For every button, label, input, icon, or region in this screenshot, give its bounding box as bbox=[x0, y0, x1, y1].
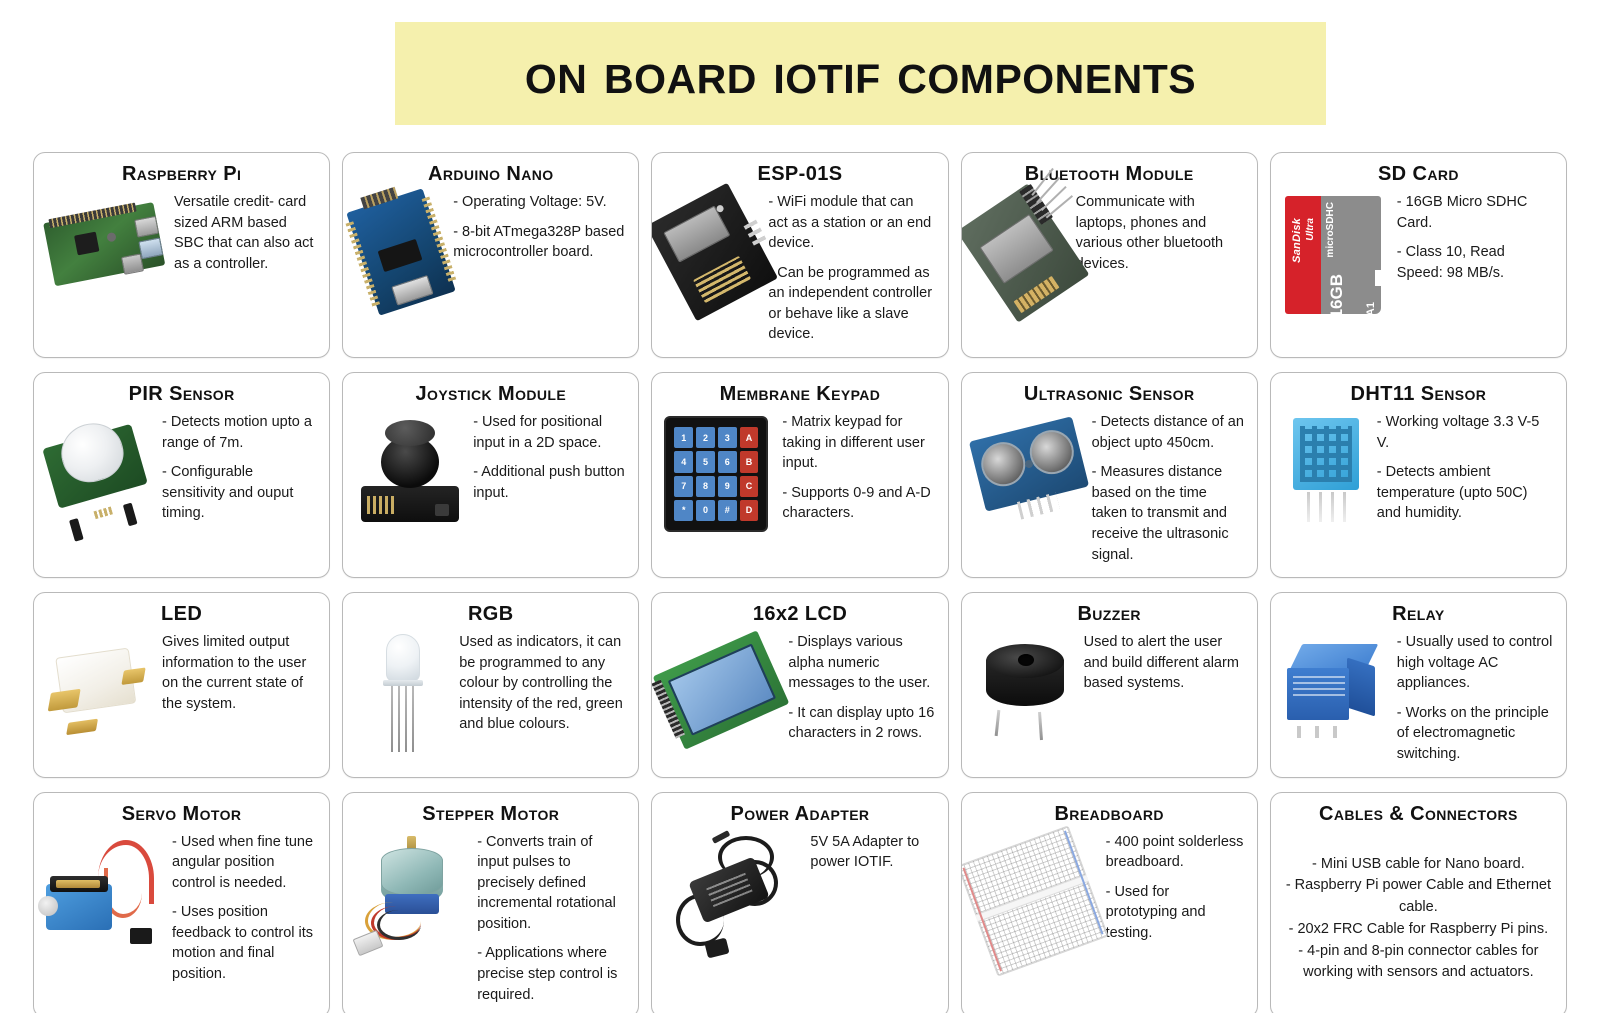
card-description: Versatile credit- card sized ARM based S… bbox=[174, 192, 317, 274]
desc-line: - 400 point solderless breadboard. bbox=[1106, 832, 1245, 873]
desc-line: - Configurable sensitivity and ouput tim… bbox=[162, 462, 317, 524]
relay-image bbox=[1283, 632, 1389, 730]
card-title: Raspberry Pi bbox=[46, 163, 317, 186]
desc-line: - 16GB Micro SDHC Card. bbox=[1397, 192, 1554, 233]
keypad-key-grid: 123A456B789C*0#D bbox=[674, 427, 758, 521]
card-bluetooth-module[interactable]: Bluetooth Module Communicate with laptop… bbox=[961, 152, 1258, 358]
card-title: Cables & Connectors bbox=[1283, 803, 1554, 826]
desc-line: - Class 10, Read Speed: 98 MB/s. bbox=[1397, 242, 1554, 283]
card-description: - Displays various alpha numeric message… bbox=[788, 632, 935, 744]
card-relay[interactable]: Relay - Usually used to control high vol… bbox=[1270, 592, 1567, 777]
card-description: - Used when fine tune angular position c… bbox=[172, 832, 317, 985]
desc-line: - Works on the principle of electromagne… bbox=[1397, 703, 1554, 765]
card-esp-01s[interactable]: ESP-01S - WiFi module that can act as a … bbox=[651, 152, 948, 358]
card-title: 16x2 LCD bbox=[664, 603, 935, 626]
keypad-key-hash[interactable]: # bbox=[718, 500, 737, 521]
desc-line: - 4-pin and 8-pin connector cables for w… bbox=[1283, 941, 1554, 985]
dht11-sensor-image bbox=[1283, 412, 1369, 522]
power-adapter-image bbox=[664, 832, 802, 958]
desc-line: - WiFi module that can act as a station … bbox=[768, 192, 935, 254]
desc-line: - Measures distance based on the time ta… bbox=[1092, 462, 1245, 565]
card-description: - Converts train of input pulses to prec… bbox=[477, 832, 626, 1006]
card-lcd-16x2[interactable]: 16x2 LCD - Displays various alpha numeri… bbox=[651, 592, 948, 777]
desc-line: - Supports 0-9 and A-D characters. bbox=[782, 483, 935, 524]
card-title: Membrane Keypad bbox=[664, 383, 935, 406]
card-title: LED bbox=[46, 603, 317, 626]
joystick-module-image bbox=[355, 412, 465, 522]
desc-line: - Detects distance of an object upto 450… bbox=[1092, 412, 1245, 453]
desc-line: - Converts train of input pulses to prec… bbox=[477, 832, 626, 935]
title-banner: On Board IOTIF Components bbox=[395, 22, 1326, 125]
card-pir-sensor[interactable]: PIR Sensor - Detects motion upto a range… bbox=[33, 372, 330, 578]
card-description: - Mini USB cable for Nano board. - Raspb… bbox=[1283, 832, 1554, 985]
desc-line: - Used for positional input in a 2D spac… bbox=[473, 412, 626, 453]
desc-line: - Usually used to control high voltage A… bbox=[1397, 632, 1554, 694]
desc-line: Gives limited output information to the … bbox=[162, 632, 317, 714]
keypad-key-0[interactable]: 0 bbox=[696, 500, 715, 521]
sd-capacity-label: 16GB bbox=[1327, 274, 1347, 318]
card-power-adapter[interactable]: Power Adapter 5V 5A Adapter to power IOT… bbox=[651, 792, 948, 1013]
card-title: DHT11 Sensor bbox=[1283, 383, 1554, 406]
keypad-key-9[interactable]: 9 bbox=[718, 476, 737, 497]
card-title: Power Adapter bbox=[664, 803, 935, 826]
desc-line: - 20x2 FRC Cable for Raspberry Pi pins. bbox=[1283, 919, 1554, 941]
membrane-keypad-image: 123A456B789C*0#D bbox=[664, 412, 774, 532]
stepper-motor-image bbox=[355, 832, 469, 952]
card-description: 5V 5A Adapter to power IOTIF. bbox=[810, 832, 935, 873]
card-breadboard[interactable]: Breadboard - 400 point solderless breadb… bbox=[961, 792, 1258, 1013]
card-title: SD Card bbox=[1283, 163, 1554, 186]
card-title: Joystick Module bbox=[355, 383, 626, 406]
desc-line: - Detects ambient temperature (upto 50C)… bbox=[1377, 462, 1554, 524]
desc-line: - Used when fine tune angular position c… bbox=[172, 832, 317, 894]
keypad-key-star[interactable]: * bbox=[674, 500, 693, 521]
keypad-key-A[interactable]: A bbox=[740, 427, 759, 448]
card-description: - Usually used to control high voltage A… bbox=[1397, 632, 1554, 764]
desc-line: - Operating Voltage: 5V. bbox=[453, 192, 626, 213]
card-description: Used as indicators, it can be programmed… bbox=[459, 632, 626, 735]
card-description: - Working voltage 3.3 V-5 V. - Detects a… bbox=[1377, 412, 1554, 524]
card-description: - 16GB Micro SDHC Card. - Class 10, Read… bbox=[1397, 192, 1554, 283]
keypad-key-B[interactable]: B bbox=[740, 451, 759, 472]
desc-line: 5V 5A Adapter to power IOTIF. bbox=[810, 832, 935, 873]
card-arduino-nano[interactable]: Arduino Nano - Operating Voltage: 5V. - … bbox=[342, 152, 639, 358]
keypad-key-3[interactable]: 3 bbox=[718, 427, 737, 448]
card-stepper-motor[interactable]: Stepper Motor - Converts train of input … bbox=[342, 792, 639, 1013]
card-title: PIR Sensor bbox=[46, 383, 317, 406]
card-title: Breadboard bbox=[974, 803, 1245, 826]
card-title: Relay bbox=[1283, 603, 1554, 626]
desc-line: - Uses position feedback to control its … bbox=[172, 902, 317, 984]
desc-line: - Can be programmed as an independent co… bbox=[768, 263, 935, 345]
esp-01s-image bbox=[664, 192, 760, 306]
keypad-key-7[interactable]: 7 bbox=[674, 476, 693, 497]
components-grid: Raspberry Pi Versatile credit- card size… bbox=[33, 152, 1567, 1013]
bluetooth-module-image bbox=[974, 192, 1068, 308]
sd-card-image: SanDisk Ultra microSDHC 16GB A1 bbox=[1283, 192, 1389, 324]
desc-line: - It can display upto 16 characters in 2… bbox=[788, 703, 935, 744]
card-buzzer[interactable]: Buzzer Used to alert the user and build … bbox=[961, 592, 1258, 777]
card-description: Gives limited output information to the … bbox=[162, 632, 317, 714]
servo-motor-image bbox=[46, 832, 164, 948]
card-ultrasonic-sensor[interactable]: Ultrasonic Sensor - Detects distance of … bbox=[961, 372, 1258, 578]
sd-rating-label: A1 bbox=[1365, 302, 1377, 316]
card-description: - WiFi module that can act as a station … bbox=[768, 192, 935, 345]
keypad-key-4[interactable]: 4 bbox=[674, 451, 693, 472]
card-description: - 400 point solderless breadboard. - Use… bbox=[1106, 832, 1245, 944]
card-description: Communicate with laptops, phones and var… bbox=[1076, 192, 1245, 274]
card-title: RGB bbox=[355, 603, 626, 626]
card-title: Arduino Nano bbox=[355, 163, 626, 186]
card-description: - Operating Voltage: 5V. - 8-bit ATmega3… bbox=[453, 192, 626, 263]
card-led[interactable]: LED Gives limited output information to … bbox=[33, 592, 330, 777]
card-rgb[interactable]: RGB Used as indicators, it can be progra… bbox=[342, 592, 639, 777]
lcd-display-image bbox=[664, 632, 780, 730]
sd-sub-label: Ultra bbox=[1305, 218, 1319, 241]
rgb-led-image bbox=[355, 632, 451, 754]
desc-line: - Additional push button input. bbox=[473, 462, 626, 503]
card-sd-card[interactable]: SD Card SanDisk Ultra microSDHC 16GB A1 … bbox=[1270, 152, 1567, 358]
keypad-key-D[interactable]: D bbox=[740, 500, 759, 521]
card-membrane-keypad[interactable]: Membrane Keypad 123A456B789C*0#D - Matri… bbox=[651, 372, 948, 578]
card-description: - Detects distance of an object upto 450… bbox=[1092, 412, 1245, 565]
keypad-key-1[interactable]: 1 bbox=[674, 427, 693, 448]
keypad-key-C[interactable]: C bbox=[740, 476, 759, 497]
keypad-key-2[interactable]: 2 bbox=[696, 427, 715, 448]
desc-line: - 8-bit ATmega328P based microcontroller… bbox=[453, 222, 626, 263]
card-title: Ultrasonic Sensor bbox=[974, 383, 1245, 406]
desc-line: - Displays various alpha numeric message… bbox=[788, 632, 935, 694]
raspberry-pi-image bbox=[46, 192, 166, 286]
card-description: - Matrix keypad for taking in different … bbox=[782, 412, 935, 524]
card-title: Bluetooth Module bbox=[974, 163, 1245, 186]
keypad-key-8[interactable]: 8 bbox=[696, 476, 715, 497]
card-raspberry-pi[interactable]: Raspberry Pi Versatile credit- card size… bbox=[33, 152, 330, 358]
card-description: Used to alert the user and build differe… bbox=[1084, 632, 1245, 694]
desc-line: - Used for prototyping and testing. bbox=[1106, 882, 1245, 944]
ultrasonic-sensor-image bbox=[974, 412, 1084, 500]
led-image bbox=[46, 632, 154, 732]
card-title: Buzzer bbox=[974, 603, 1245, 626]
desc-line: Versatile credit- card sized ARM based S… bbox=[174, 192, 317, 274]
desc-line: - Detects motion upto a range of 7m. bbox=[162, 412, 317, 453]
card-title: Stepper Motor bbox=[355, 803, 626, 826]
card-title: Servo Motor bbox=[46, 803, 317, 826]
desc-line: Communicate with laptops, phones and var… bbox=[1076, 192, 1245, 274]
desc-line: - Working voltage 3.3 V-5 V. bbox=[1377, 412, 1554, 453]
card-title: ESP-01S bbox=[664, 163, 935, 186]
desc-line: - Raspberry Pi power Cable and Ethernet … bbox=[1283, 875, 1554, 919]
card-joystick-module[interactable]: Joystick Module - Used for positional in… bbox=[342, 372, 639, 578]
card-description: - Detects motion upto a range of 7m. - C… bbox=[162, 412, 317, 524]
sd-type-label: microSDHC bbox=[1325, 202, 1336, 258]
card-description: - Used for positional input in a 2D spac… bbox=[473, 412, 626, 503]
breadboard-image bbox=[974, 832, 1098, 960]
card-dht11-sensor[interactable]: DHT11 Sensor - Working voltage 3.3 V-5 V… bbox=[1270, 372, 1567, 578]
pir-sensor-image bbox=[46, 412, 154, 518]
card-cables-connectors[interactable]: Cables & Connectors - Mini USB cable for… bbox=[1270, 792, 1567, 1013]
desc-line: Used as indicators, it can be programmed… bbox=[459, 632, 626, 735]
keypad-key-6[interactable]: 6 bbox=[718, 451, 737, 472]
buzzer-image bbox=[974, 632, 1076, 736]
card-servo-motor[interactable]: Servo Motor - Used when fine tune angula… bbox=[33, 792, 330, 1013]
desc-line: - Matrix keypad for taking in different … bbox=[782, 412, 935, 474]
poster-page: On Board IOTIF Components Raspberry Pi V… bbox=[0, 0, 1600, 1013]
keypad-key-5[interactable]: 5 bbox=[696, 451, 715, 472]
desc-line: Used to alert the user and build differe… bbox=[1084, 632, 1245, 694]
page-title: On Board IOTIF Components bbox=[525, 40, 1196, 107]
desc-line: - Mini USB cable for Nano board. bbox=[1283, 854, 1554, 876]
desc-line: - Applications where precise step contro… bbox=[477, 943, 626, 1005]
arduino-nano-image bbox=[355, 192, 445, 306]
